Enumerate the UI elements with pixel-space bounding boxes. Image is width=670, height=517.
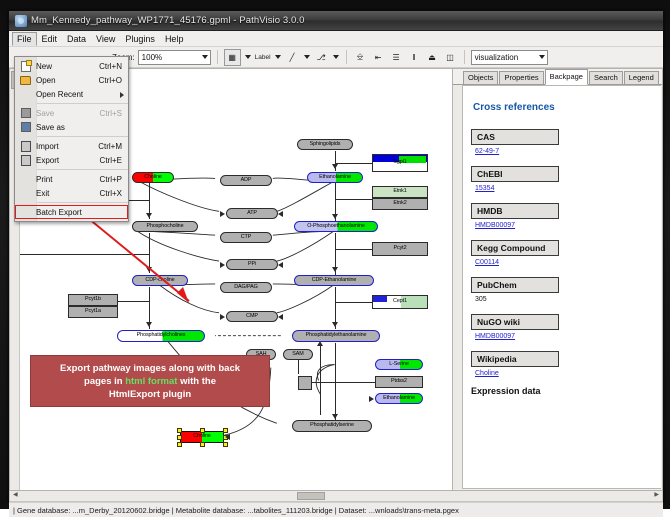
menu-item-accel: Ctrl+E [100,156,128,165]
menu-item-label: Open Recent [36,90,128,99]
status-text: | Gene database: ...m_Derby_20120602.bri… [13,506,459,515]
menu-item-accel: Ctrl+M [98,142,128,151]
menu-item-open[interactable]: Open Ctrl+O [15,73,128,87]
pathvisio-window: Mm_Kennedy_pathway_WP1771_45176.gpml - P… [8,10,664,502]
menu-separator-4 [37,202,128,203]
menu-separator-1 [37,103,128,104]
import-icon [15,141,36,152]
menu-item-save-as[interactable]: Save as [15,120,128,134]
save-as-icon [15,122,36,132]
new-document-icon [15,61,36,72]
menu-item-label: Batch Export [36,208,128,217]
menu-item-print[interactable]: Print Ctrl+P [15,172,128,186]
export-icon [15,155,36,166]
menu-item-label: Save as [36,123,122,132]
menu-item-label: Exit [36,189,100,198]
menu-item-label: Open [36,76,99,85]
menu-item-accel: Ctrl+X [100,189,128,198]
submenu-arrow-icon [120,92,124,98]
menu-item-label: Import [36,142,98,151]
menu-item-accel: Ctrl+P [100,175,128,184]
menu-item-label: Export [36,156,100,165]
file-menu-dropdown: New Ctrl+N Open Ctrl+O Open Recent Save … [14,56,129,222]
menu-item-accel: Ctrl+N [99,62,128,71]
menu-item-accel: Ctrl+O [99,76,128,85]
save-icon [15,108,36,118]
menu-item-label: Save [36,109,100,118]
menu-item-label: New [36,62,99,71]
menu-item-export[interactable]: Export Ctrl+E [15,153,128,167]
status-bar: | Gene database: ...m_Derby_20120602.bri… [9,502,663,517]
menu-item-save[interactable]: Save Ctrl+S [15,106,128,120]
menu-item-batch-export[interactable]: Batch Export [15,205,128,219]
menu-item-exit[interactable]: Exit Ctrl+X [15,186,128,200]
menu-item-import[interactable]: Import Ctrl+M [15,139,128,153]
menu-separator-3 [37,169,128,170]
screenshot-root: Mm_Kennedy_pathway_WP1771_45176.gpml - P… [0,0,670,509]
menu-item-accel: Ctrl+S [100,109,128,118]
menu-item-new[interactable]: New Ctrl+N [15,59,128,73]
open-folder-icon [15,76,36,85]
menu-item-open-recent[interactable]: Open Recent [15,87,128,101]
menu-separator-2 [37,136,128,137]
menu-item-label: Print [36,175,100,184]
